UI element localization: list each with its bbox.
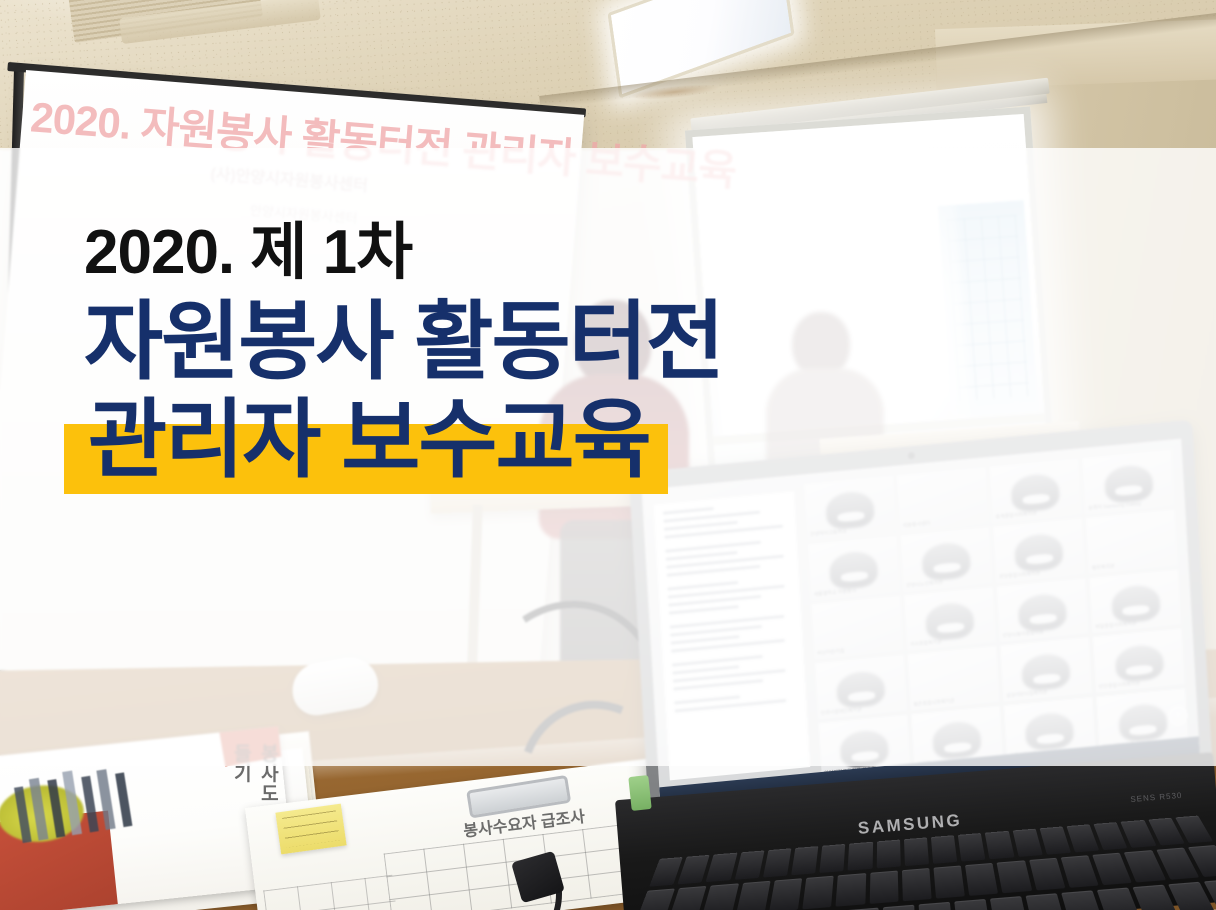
sticky-note-handwriting (282, 810, 340, 847)
keyboard-key (931, 835, 958, 864)
keyboard-key (736, 881, 771, 910)
keyboard-key (902, 868, 932, 901)
keyboard-key (876, 840, 900, 869)
keyboard-key (769, 879, 802, 910)
keyboard-key (997, 861, 1032, 893)
keyboard-key (883, 904, 916, 910)
keyboard-key (802, 876, 834, 909)
keyboard-key (677, 855, 710, 885)
keyboard-key (958, 833, 986, 862)
keyboard-key (985, 831, 1014, 860)
keyboard-key (669, 886, 707, 910)
laptop-brand-label: SAMSUNG (857, 811, 963, 839)
keyboard-key (990, 896, 1029, 910)
keyboard-key (965, 863, 998, 895)
title-line-main: 자원봉사 활동터전 (84, 294, 1084, 390)
poster-canvas: 2020. 자원봉사 활동터전 관리자 보수교육 (사)안양시자원봉사센터 안양… (0, 0, 1216, 910)
green-marker-pen (628, 775, 651, 811)
keyboard-key (904, 837, 929, 866)
keyboard-key (1012, 829, 1042, 858)
keyboard-key (919, 901, 954, 910)
keyboard-key (869, 871, 898, 904)
title-line-edition: 2020. 제 1차 (84, 222, 1084, 284)
form-table-grid-secondary (263, 875, 398, 910)
title-line-highlighted: 관리자 보수교육 (84, 392, 654, 488)
keyboard-key (734, 850, 764, 880)
title-line-highlight-wrap: 관리자 보수교육 (84, 392, 1084, 488)
keyboard-key (820, 844, 846, 873)
keyboard-key (836, 873, 866, 906)
keyboard-key (763, 848, 792, 878)
keyboard-key (848, 842, 873, 871)
keyboard-key (954, 899, 991, 910)
keyboard-key (933, 866, 965, 898)
keyboard-key (1039, 826, 1071, 854)
laptop-model-label: SENS R530 (1130, 791, 1183, 804)
keyboard-key (1029, 858, 1065, 890)
keyboard-key (635, 889, 675, 910)
keyboard-key (791, 846, 818, 875)
keyboard-key (1061, 856, 1099, 888)
keyboard-key (1025, 893, 1066, 910)
title-block: 2020. 제 1차 자원봉사 활동터전 관리자 보수교육 (84, 222, 1084, 489)
keyboard-key (702, 884, 738, 910)
keyboard-key (706, 853, 737, 883)
